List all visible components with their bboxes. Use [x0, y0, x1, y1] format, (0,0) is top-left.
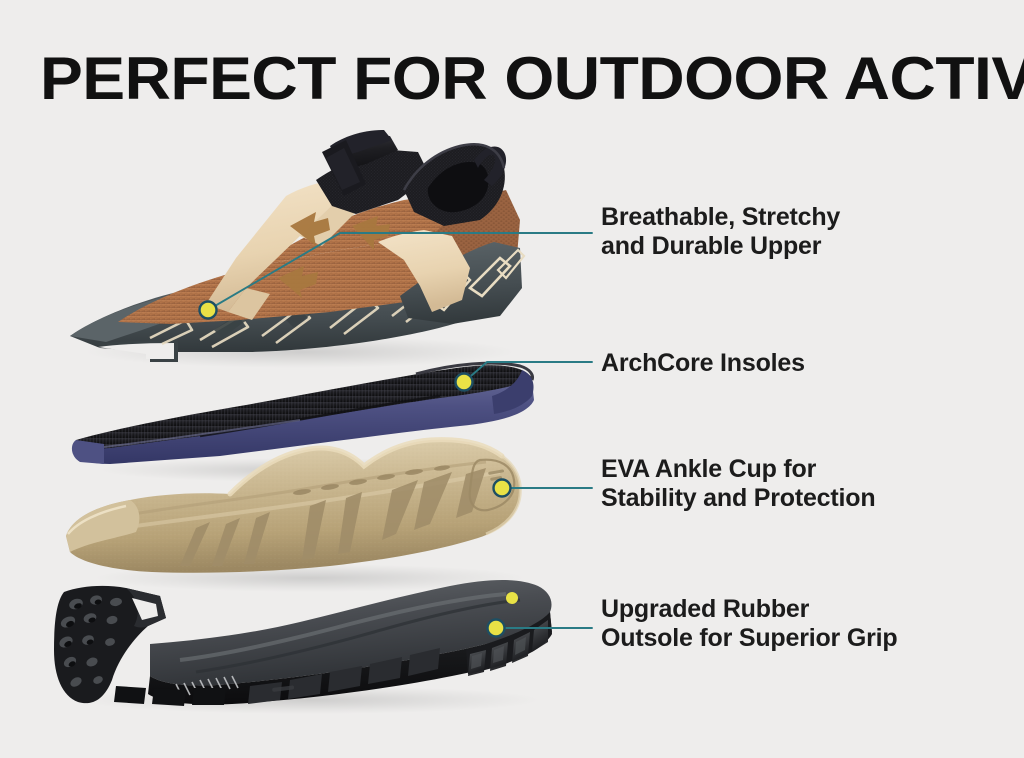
- callout-label-outsole: Upgraded Rubber Outsole for Superior Gri…: [601, 595, 897, 653]
- callout-label-insole: ArchCore Insoles: [601, 349, 805, 378]
- infographic-canvas: PERFECT FOR OUTDOOR ACTIVITY Breathable,…: [0, 0, 1024, 758]
- page-title: PERFECT FOR OUTDOOR ACTIVITY: [40, 50, 1024, 108]
- shoe-upper-illustration: [70, 130, 524, 368]
- callout-label-eva-ankle-cup: EVA Ankle Cup for Stability and Protecti…: [601, 455, 875, 513]
- rubber-outsole-illustration: [54, 580, 552, 714]
- callout-label-upper: Breathable, Stretchy and Durable Upper: [601, 203, 840, 261]
- eva-midsole-illustration: [66, 440, 525, 592]
